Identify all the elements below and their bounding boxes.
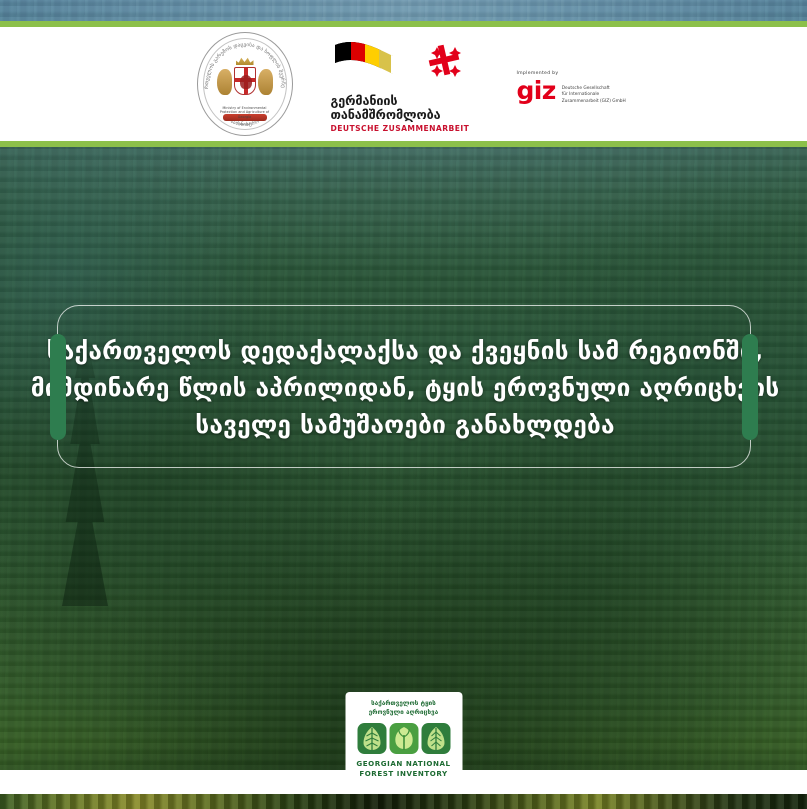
giz-wordmark: giz: [517, 81, 556, 102]
gnfi-english-name: GEORGIAN NATIONAL FOREST INVENTORY: [352, 759, 455, 779]
german-cooperation-logo: გერმანიის თანამშრომლობა DEUTSCHE ZUSAMME…: [331, 35, 479, 133]
poster-root: საქართველოს გარემოს დაცვისა და სოფლის მე…: [0, 0, 807, 809]
german-georgian-flag-icon: [331, 35, 479, 93]
partner-logo-row: საქართველოს გარემოს დაცვისა და სოფლის მე…: [197, 32, 635, 136]
gnfi-ka-line-1: საქართველოს ტყის: [352, 700, 455, 709]
announcement-title-card: საქართველოს დედაქალაქსა და ქვეყნის სამ რ…: [57, 305, 751, 468]
st-george-shield-icon: [234, 67, 256, 95]
german-cooperation-ka-line2: თანამშრომლობა: [331, 108, 479, 122]
gnfi-ka-line-2: ეროვნული აღრიცხვა: [352, 709, 455, 718]
leaf-icon-2: [389, 723, 418, 754]
giz-description-line-3: Zusammenarbeit (GIZ) GmbH: [562, 99, 626, 105]
giz-logo: Implemented by giz Deutsche Gesellschaft…: [517, 63, 635, 105]
ministry-seal-caption-sub: Georgia: [210, 122, 280, 126]
ministry-coat-of-arms-icon: საქართველოს გარემოს დაცვისა და სოფლის მე…: [197, 32, 293, 136]
lion-left-icon: [217, 69, 232, 95]
gnfi-en-line-2: FOREST INVENTORY: [352, 769, 455, 779]
right-accent-bar: [742, 334, 758, 440]
leaf-icon-3: [421, 723, 450, 754]
partner-logo-header: საქართველოს გარემოს დაცვისა და სოფლის მე…: [0, 27, 807, 141]
crown-icon: [236, 57, 254, 65]
announcement-title-text: საქართველოს დედაქალაქსა და ქვეყნის სამ რ…: [58, 306, 752, 469]
german-cooperation-ka-line1: გერმანიის: [331, 94, 479, 108]
gnfi-en-line-1: GEORGIAN NATIONAL: [352, 759, 455, 769]
bottom-photo-sliver: [0, 794, 807, 809]
gnfi-logo: საქართველოს ტყის ეროვნული აღრიცხვა: [345, 692, 462, 786]
gnfi-leaf-icon-row: [352, 723, 455, 754]
title-line-2: მიმდინარე წლის აპრილიდან, ტყის ეროვნული …: [31, 369, 780, 406]
gnfi-georgian-name: საქართველოს ტყის ეროვნული აღრიცხვა: [352, 700, 455, 718]
title-line-1: საქართველოს დედაქალაქსა და ქვეყნის სამ რ…: [47, 332, 764, 369]
left-accent-bar: [50, 334, 66, 440]
leaf-icon-1: [357, 723, 386, 754]
header-bottom-green-stripe: [0, 141, 807, 147]
lion-right-icon: [258, 69, 273, 95]
title-line-3: საველე სამუშაოები განახლდება: [195, 406, 615, 443]
header-top-green-stripe: [0, 21, 807, 27]
ministry-seal-caption-en: Ministry of Environmental Protection and…: [214, 106, 276, 119]
giz-description: Deutsche Gesellschaft für Internationale…: [562, 81, 626, 105]
giz-mark-row: giz Deutsche Gesellschaft für Internatio…: [517, 81, 635, 105]
german-cooperation-de-line: DEUTSCHE ZUSAMMENARBEIT: [331, 124, 479, 133]
